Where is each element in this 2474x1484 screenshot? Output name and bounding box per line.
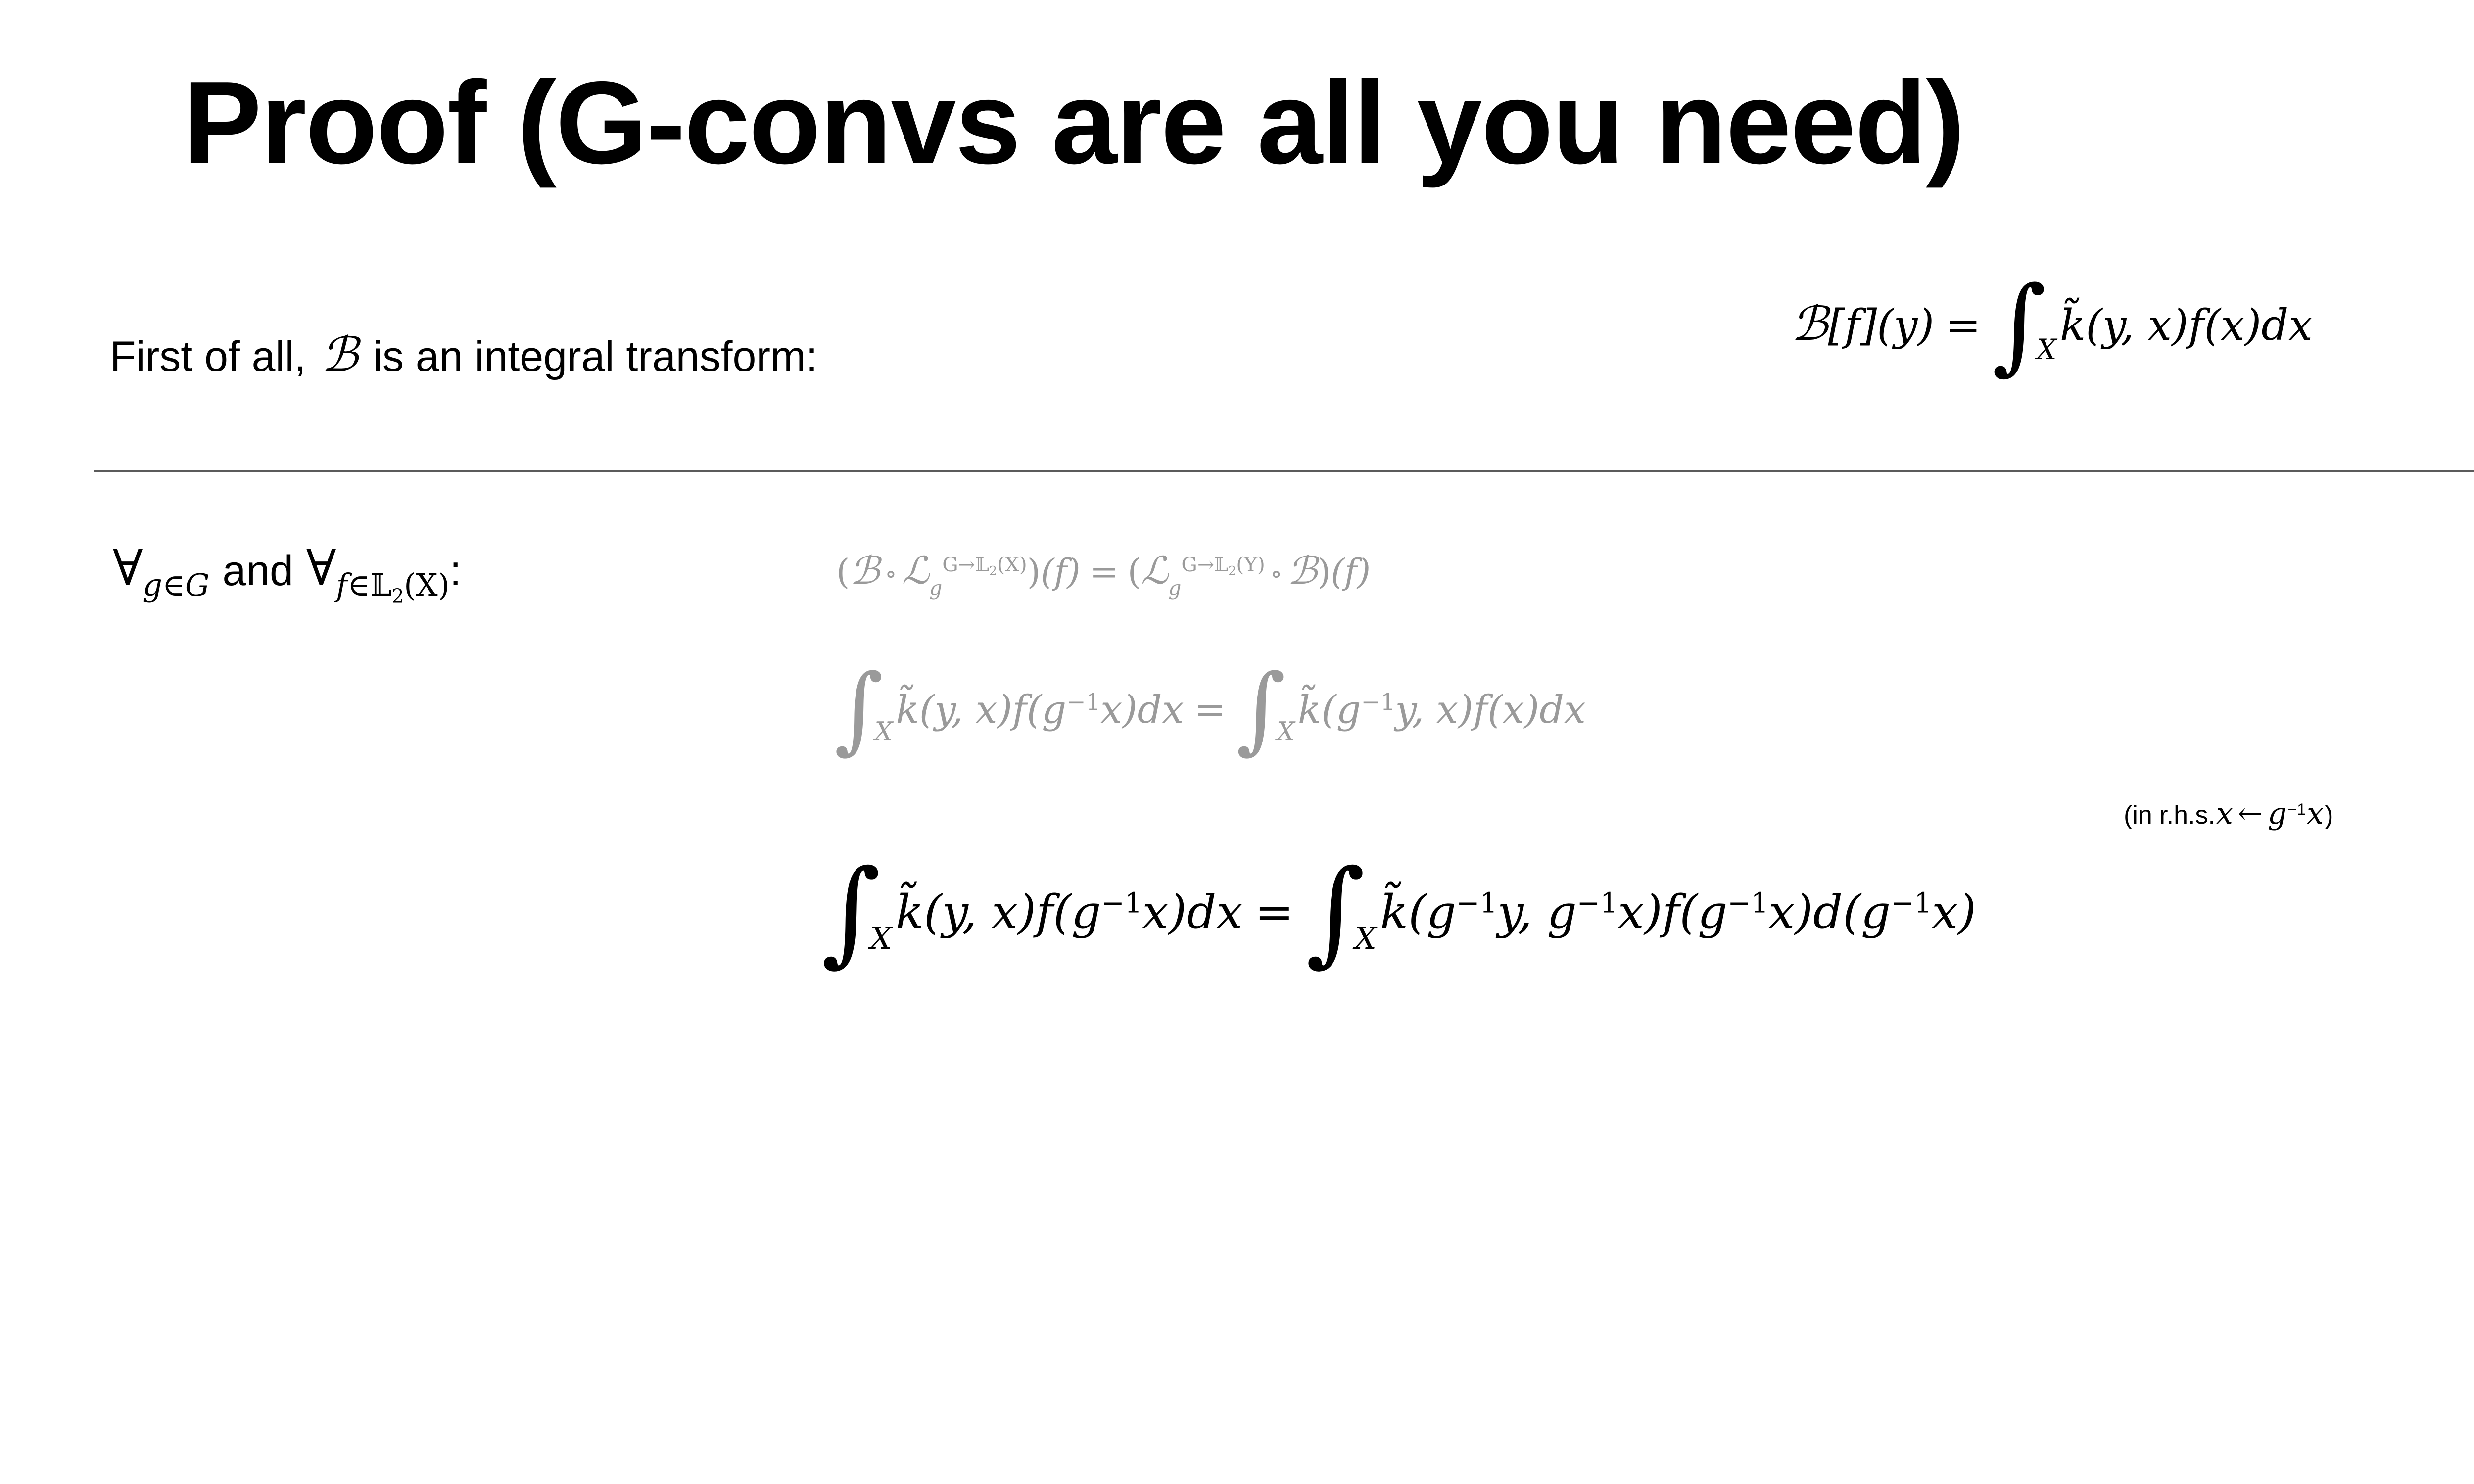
forall-icon-2: ∀ bbox=[306, 539, 336, 597]
integral-lower-limit: X bbox=[2037, 333, 2056, 366]
eq3-rhs-body-e: x) bbox=[1932, 885, 1976, 939]
eq1-lhs-sup-index: 2 bbox=[989, 563, 997, 578]
eq2-equals: = bbox=[1184, 688, 1237, 732]
quantifier-space-L: 𝕃 bbox=[370, 567, 392, 603]
eq1-rhs-sup-space: 𝕃 bbox=[1214, 553, 1229, 576]
eq1-rhs-applied: (f) bbox=[1331, 552, 1371, 592]
side-note-var-from: x bbox=[2215, 796, 2234, 831]
page-title: Proof (G-convs are all you need) bbox=[183, 64, 2474, 182]
eq1-equals: = bbox=[1081, 552, 1128, 592]
quantifier-colon: : bbox=[450, 547, 462, 595]
eq3-rhs-exponent-1: −1 bbox=[1456, 887, 1497, 919]
eq1-lhs-sup-arg: (X) bbox=[997, 553, 1027, 576]
side-note-suffix: ) bbox=[2325, 801, 2333, 830]
eq1-lhs-superscript: G→𝕃2(X) bbox=[942, 553, 1027, 576]
script-k-icon: ℬ bbox=[318, 327, 361, 382]
eq1-lhs-sup-space: 𝕃 bbox=[975, 553, 990, 576]
forall-icon-1: ∀ bbox=[113, 539, 143, 597]
intro-text-after: is an integral transform: bbox=[373, 333, 818, 380]
quantifier-conjunction: and bbox=[210, 547, 307, 595]
eq1-lhs-sup-domain: G bbox=[942, 553, 958, 576]
eq3-rhs-body-d: x)d(g bbox=[1768, 885, 1891, 939]
eq3-lhs-body-b: x)dx bbox=[1142, 885, 1243, 939]
slide-canvas: Proof (G-convs are all you need) First o… bbox=[0, 0, 2474, 1484]
eq1-lhs-subscript: g bbox=[929, 576, 942, 600]
integral-sign-icon-eq3-lhs: ∫ bbox=[821, 845, 883, 978]
kernel-definition-equation: ℬ[f](y)=∫Xk̃(y, x)f(x)dx bbox=[1791, 297, 2313, 351]
integral-sign-icon-eq2-lhs: ∫ bbox=[834, 654, 885, 764]
side-note-exponent: −1 bbox=[2288, 800, 2306, 818]
integral-sign-icon: ∫ bbox=[1992, 264, 2048, 385]
eq2-lhs-lower-limit: X bbox=[875, 717, 893, 746]
equation-integral-substituted: ∫Xk̃(y, x)f(g−1x)dx=∫Xk̃(g−1y, g−1x)f(g−… bbox=[821, 885, 1976, 939]
element-of-icon-2: ∈ bbox=[347, 567, 370, 603]
quantifier-space-arg: (X) bbox=[404, 567, 450, 603]
eq1-script-l-lhs: ℒ bbox=[902, 549, 929, 593]
quantifier-var-g: g bbox=[143, 567, 162, 603]
quantifier-subscript-2: f∈𝕃2(X) bbox=[336, 567, 449, 603]
compose-icon-2: ∘ bbox=[1265, 559, 1287, 588]
eq1-rhs-subscript: g bbox=[1168, 576, 1181, 600]
side-note-prefix: (in r.h.s. bbox=[2124, 801, 2215, 830]
horizontal-divider bbox=[94, 470, 2474, 472]
eq1-script-k-rhs: ℬ bbox=[1287, 549, 1318, 593]
eq1-script-l-rhs: ℒ bbox=[1141, 549, 1168, 593]
eq2-lhs-body-b: x)dx bbox=[1100, 688, 1184, 732]
kernel-eq-integrand: k̃(y, x)f(x)dx bbox=[2060, 301, 2313, 350]
eq3-equals: = bbox=[1243, 885, 1306, 939]
substitution-side-note: (in r.h.s.x←g−1x) bbox=[2124, 796, 2333, 831]
left-arrow-icon: ← bbox=[2234, 796, 2267, 831]
eq3-rhs-exponent-2: −1 bbox=[1577, 887, 1618, 919]
eq1-rhs-sup-domain: G bbox=[1181, 553, 1197, 576]
intro-text-before: First of all, bbox=[110, 333, 306, 380]
quantifier-var-f: f bbox=[336, 567, 347, 603]
intro-statement: First of all, ℬ is an integral transform… bbox=[110, 327, 818, 382]
eq1-rhs-sup-arg: (Y) bbox=[1236, 553, 1265, 576]
eq3-lhs-body-a: k̃(y, x)f(g bbox=[896, 885, 1101, 939]
eq1-script-k-lhs: ℬ bbox=[850, 549, 880, 593]
kernel-eq-operator: ℬ bbox=[1791, 297, 1828, 351]
integral-sign-icon-eq3-rhs: ∫ bbox=[1306, 845, 1368, 978]
eq3-lhs-exponent: −1 bbox=[1101, 887, 1142, 919]
eq1-lhs-applied: (f) bbox=[1041, 552, 1081, 592]
eq3-rhs-exponent-4: −1 bbox=[1891, 887, 1932, 919]
element-of-icon-1: ∈ bbox=[162, 567, 185, 603]
eq2-rhs-exponent: −1 bbox=[1361, 689, 1395, 716]
side-note-var-to-tail: x bbox=[2306, 796, 2325, 831]
eq3-rhs-body-a: k̃(g bbox=[1380, 885, 1456, 939]
eq2-lhs-exponent: −1 bbox=[1066, 689, 1100, 716]
eq3-rhs-body-c: x)f(g bbox=[1618, 885, 1727, 939]
quantifier-subscript-1: g∈G bbox=[143, 567, 209, 603]
equation-integral-expanded: ∫Xk̃(y, x)f(g−1x)dx=∫Xk̃(g−1y, x)f(x)dx bbox=[834, 688, 1586, 732]
equation-equivariance-operator: (ℬ∘ℒgG→𝕃2(X))(f)=(ℒgG→𝕃2(Y)∘ℬ)(f) bbox=[836, 549, 1371, 600]
eq1-lhs-sup-arrow: → bbox=[958, 553, 975, 576]
eq2-lhs-body-a: k̃(y, x)f(g bbox=[896, 688, 1067, 732]
side-note-var-to-base: g bbox=[2267, 796, 2287, 831]
integral-sign-icon-eq2-rhs: ∫ bbox=[1236, 654, 1287, 764]
quantifier-statement: ∀g∈Gand∀f∈𝕃2(X): bbox=[113, 539, 462, 607]
compose-icon-1: ∘ bbox=[880, 559, 902, 588]
kernel-eq-equals: = bbox=[1934, 301, 1992, 350]
eq2-rhs-body-b: y, x)f(x)dx bbox=[1395, 688, 1586, 732]
eq3-lhs-lower-limit: X bbox=[870, 920, 892, 956]
kernel-eq-lhs: [f](y) bbox=[1828, 301, 1934, 350]
quantifier-set-g: G bbox=[185, 567, 210, 603]
eq3-rhs-body-b: y, g bbox=[1497, 885, 1577, 939]
eq3-rhs-exponent-3: −1 bbox=[1727, 887, 1768, 919]
quantifier-space-index: 2 bbox=[392, 585, 404, 607]
eq3-rhs-lower-limit: X bbox=[1355, 920, 1377, 956]
eq1-rhs-sup-index: 2 bbox=[1228, 563, 1236, 578]
eq2-rhs-lower-limit: X bbox=[1277, 717, 1295, 746]
eq2-rhs-body-a: k̃(g bbox=[1298, 688, 1361, 732]
eq1-rhs-superscript: G→𝕃2(Y) bbox=[1181, 553, 1265, 576]
eq1-rhs-sup-arrow: → bbox=[1197, 553, 1214, 576]
